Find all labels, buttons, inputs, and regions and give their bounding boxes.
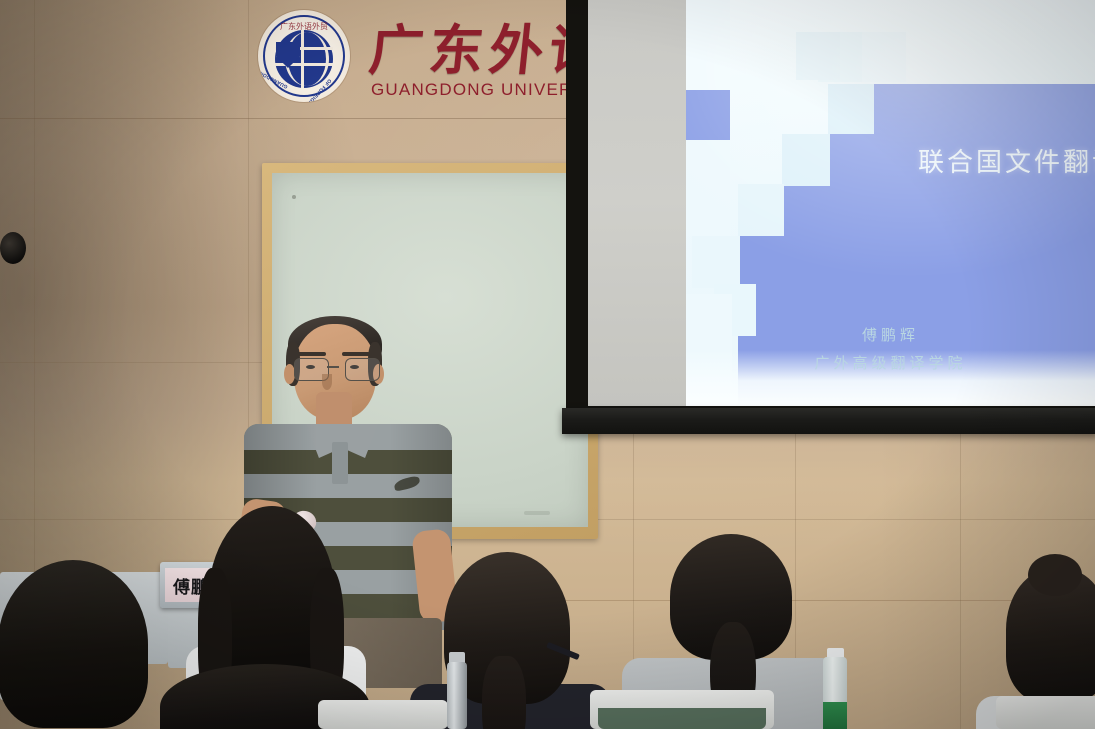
slide-title: 联合国文件翻译: [918, 142, 1095, 179]
chair-back: [318, 700, 448, 729]
slide-affiliation: 广外高级翻译学院: [686, 352, 1095, 373]
slide-accent-block: [686, 140, 730, 236]
bottle-label: [823, 702, 847, 729]
slide-accent-block: [862, 32, 906, 82]
logo-arc-text: GUANGDONG UNIVERSITY OF FOREIGN STUDIES: [258, 10, 350, 102]
gdufs-globe-logo: 广东外语外贸大学 GUANGDONG UNIVERSITY OF FOREIGN…: [258, 10, 350, 102]
steel-thermos: [446, 652, 468, 729]
slide-accent-block: [692, 236, 740, 288]
lecture-hall-photo: 广东外语外贸大学 GUANGDONG UNIVERSITY OF FOREIGN…: [0, 0, 1095, 729]
audience-member: [0, 560, 170, 729]
slide-presenter: 傅鹏辉: [686, 324, 1095, 345]
chair-seat: [598, 708, 766, 729]
slide-accent-block: [828, 84, 874, 134]
screen-unused-area: [588, 0, 686, 406]
wall-grout-line: [960, 430, 961, 729]
water-bottle: [822, 648, 848, 729]
slide-accent-block: [686, 0, 730, 90]
speaker-glasses: [292, 358, 380, 380]
projection-screen: 联合国文件翻译 傅鹏辉 广外高级翻译学院: [566, 0, 1095, 440]
speaker-nose: [322, 374, 332, 390]
screen-bottom-bar: [562, 408, 1095, 434]
presentation-slide: 联合国文件翻译 傅鹏辉 广外高级翻译学院: [686, 0, 1095, 406]
slide-accent-block: [738, 184, 784, 236]
round-wall-fixture: [0, 232, 26, 264]
slide-accent-block: [796, 32, 840, 80]
chair-back: [996, 696, 1095, 729]
slide-accent-block: [686, 90, 730, 140]
slide-accent-block: [782, 134, 830, 186]
